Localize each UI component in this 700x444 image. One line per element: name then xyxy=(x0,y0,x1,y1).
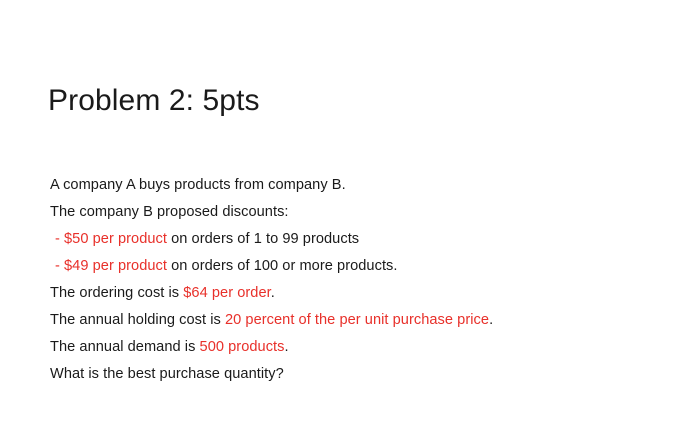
page-title: Problem 2: 5pts xyxy=(48,84,260,118)
text-segment: The annual holding cost is xyxy=(50,312,225,328)
line-question: What is the best purchase quantity? xyxy=(50,361,670,388)
highlighted-value: 500 products xyxy=(200,339,285,355)
text-segment: The annual demand is xyxy=(50,339,200,355)
text-segment: The ordering cost is xyxy=(50,285,183,301)
text-segment: The company B proposed discounts: xyxy=(50,204,289,220)
highlighted-value: $64 per order xyxy=(183,285,270,301)
text-segment: on orders of 100 or more products. xyxy=(167,258,398,274)
problem-statement-body: A company A buys products from company B… xyxy=(50,172,670,388)
bullet-dash: - xyxy=(55,258,64,274)
line-holding-cost: The annual holding cost is 20 percent of… xyxy=(50,307,670,334)
highlighted-value: $50 per product xyxy=(64,231,167,247)
highlighted-value: $49 per product xyxy=(64,258,167,274)
line-discount-tier-2: - $49 per product on orders of 100 or mo… xyxy=(50,253,670,280)
text-segment: . xyxy=(285,339,289,355)
text-segment: What is the best purchase quantity? xyxy=(50,366,284,382)
line-ordering-cost: The ordering cost is $64 per order. xyxy=(50,280,670,307)
text-segment: . xyxy=(271,285,275,301)
bullet-dash: - xyxy=(55,231,64,247)
line-intro: A company A buys products from company B… xyxy=(50,172,670,199)
highlighted-value: 20 percent of the per unit purchase pric… xyxy=(225,312,489,328)
text-segment: A company A buys products from company B… xyxy=(50,177,346,193)
line-discount-tier-1: - $50 per product on orders of 1 to 99 p… xyxy=(50,226,670,253)
slide-canvas: Problem 2: 5pts A company A buys product… xyxy=(0,0,700,444)
line-discounts-header: The company B proposed discounts: xyxy=(50,199,670,226)
text-segment: on orders of 1 to 99 products xyxy=(167,231,359,247)
line-annual-demand: The annual demand is 500 products. xyxy=(50,334,670,361)
text-segment: . xyxy=(489,312,493,328)
